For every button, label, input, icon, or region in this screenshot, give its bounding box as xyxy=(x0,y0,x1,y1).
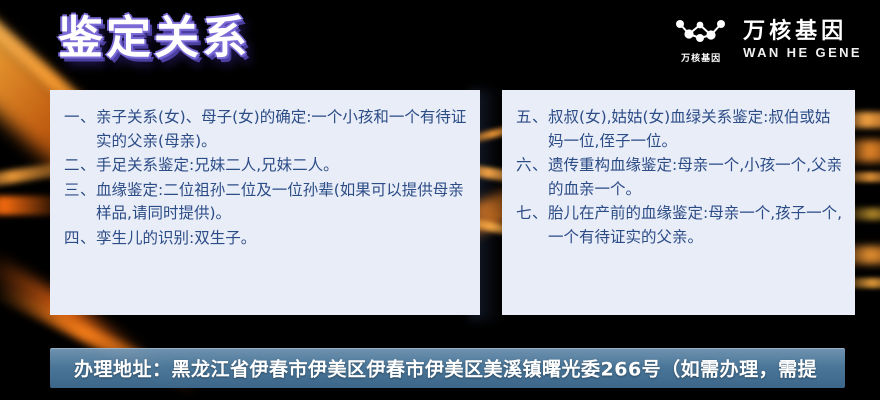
list-item-number: 一、 xyxy=(64,106,96,130)
page-title: 鉴定关系 xyxy=(58,14,250,61)
list-item: 四、 孪生儿的识别:双生子。 xyxy=(64,227,468,251)
brand-name-en: WAN HE GENE xyxy=(743,46,862,60)
header: 鉴定关系 xyxy=(0,0,880,88)
list-item: 七、 胎儿在产前的血缘鉴定:母亲一个,孩子一个,一个有待证实的父亲。 xyxy=(516,202,843,249)
content-panel-left: 一、 亲子关系(女)、母子(女)的确定:一个小孩和一个有待证实的父亲(母亲)。 … xyxy=(50,90,480,315)
list-item-text: 亲子关系(女)、母子(女)的确定:一个小孩和一个有待证实的父亲(母亲)。 xyxy=(96,106,468,153)
list-item-number: 六、 xyxy=(516,154,548,178)
address-banner-text: 办理地址：黑龙江省伊春市伊美区伊春市伊美区美溪镇曙光委266号（如需办理，需提 xyxy=(74,355,817,382)
list-item: 一、 亲子关系(女)、母子(女)的确定:一个小孩和一个有待证实的父亲(母亲)。 xyxy=(64,106,468,153)
list-item-number: 七、 xyxy=(516,202,548,226)
slide-canvas: 鉴定关系 xyxy=(0,0,880,400)
list-item-number: 五、 xyxy=(516,106,548,130)
molecule-nodes-icon xyxy=(673,16,729,48)
list-item-text: 血缘鉴定:二位祖孙二位及一位孙辈(如果可以提供母亲样品,请同时提供)。 xyxy=(96,179,468,226)
relationship-list-left: 一、 亲子关系(女)、母子(女)的确定:一个小孩和一个有待证实的父亲(母亲)。 … xyxy=(64,106,468,250)
brand-name-cn: 万核基因 xyxy=(743,20,862,44)
list-item-text: 胎儿在产前的血缘鉴定:母亲一个,孩子一个,一个有待证实的父亲。 xyxy=(548,202,843,249)
list-item-number: 三、 xyxy=(64,179,96,203)
brand-mark-caption: 万核基因 xyxy=(681,51,721,64)
list-item-text: 孪生儿的识别:双生子。 xyxy=(96,227,468,251)
brand-logo: 万核基因 万核基因 WAN HE GENE xyxy=(673,16,862,64)
content-panel-right: 五、 叔叔(女),姑姑(女)血绿关系鉴定:叔伯或姑妈一位,侄子一位。 六、 遗传… xyxy=(502,90,855,315)
list-item-text: 手足关系鉴定:兄妹二人,兄妹二人。 xyxy=(96,154,468,178)
list-item-text: 叔叔(女),姑姑(女)血绿关系鉴定:叔伯或姑妈一位,侄子一位。 xyxy=(548,106,843,153)
brand-wordmark: 万核基因 WAN HE GENE xyxy=(743,20,862,60)
relationship-list-right: 五、 叔叔(女),姑姑(女)血绿关系鉴定:叔伯或姑妈一位,侄子一位。 六、 遗传… xyxy=(516,106,843,249)
list-item-number: 二、 xyxy=(64,154,96,178)
list-item: 二、 手足关系鉴定:兄妹二人,兄妹二人。 xyxy=(64,154,468,178)
address-banner: 办理地址：黑龙江省伊春市伊美区伊春市伊美区美溪镇曙光委266号（如需办理，需提 xyxy=(50,348,845,388)
list-item: 五、 叔叔(女),姑姑(女)血绿关系鉴定:叔伯或姑妈一位,侄子一位。 xyxy=(516,106,843,153)
list-item-text: 遗传重构血缘鉴定:母亲一个,小孩一个,父亲的血亲一个。 xyxy=(548,154,843,201)
list-item: 三、 血缘鉴定:二位祖孙二位及一位孙辈(如果可以提供母亲样品,请同时提供)。 xyxy=(64,179,468,226)
list-item: 六、 遗传重构血缘鉴定:母亲一个,小孩一个,父亲的血亲一个。 xyxy=(516,154,843,201)
footer-band: 办理地址：黑龙江省伊春市伊美区伊春市伊美区美溪镇曙光委266号（如需办理，需提 xyxy=(0,340,880,400)
brand-mark: 万核基因 xyxy=(673,16,729,64)
list-item-number: 四、 xyxy=(64,227,96,251)
